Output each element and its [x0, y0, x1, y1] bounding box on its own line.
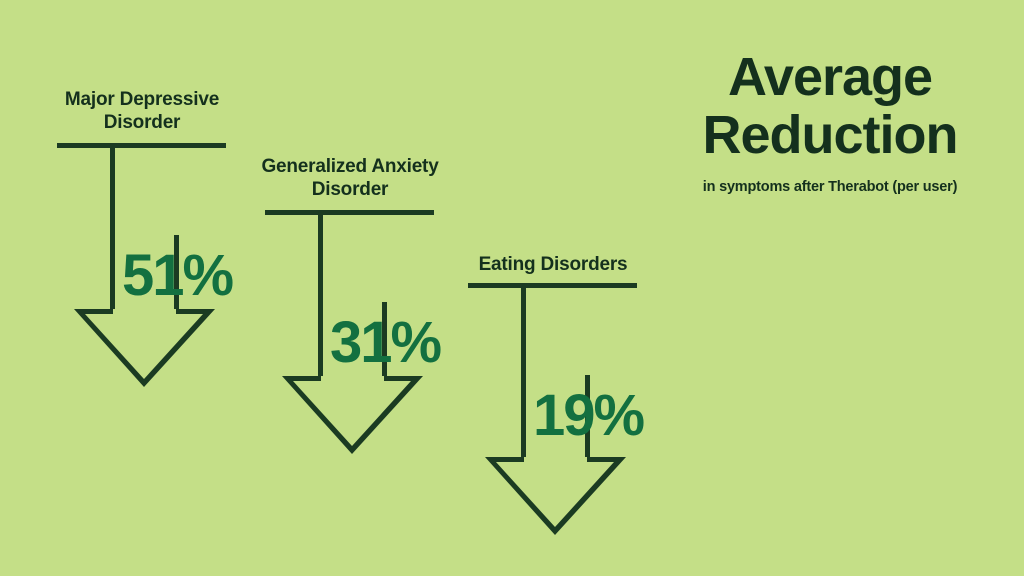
down-arrow-icon-major-depressive-disorder	[57, 88, 297, 388]
infographic-canvas: Major Depressive Disorder 51% Generalize…	[0, 0, 1024, 576]
page-subtitle: in symptoms after Therabot (per user)	[660, 179, 1000, 195]
stat-group-eating-disorders: Eating Disorders 19%	[468, 228, 708, 538]
page-title-line2: Reduction	[660, 106, 1000, 164]
stat-value-major-depressive-disorder: 51%	[122, 247, 232, 305]
stat-value-generalized-anxiety-disorder: 31%	[330, 314, 440, 372]
heading-block: Average Reduction in symptoms after Ther…	[660, 48, 1000, 195]
stat-value-eating-disorders: 19%	[533, 387, 643, 445]
page-title: Average Reduction	[660, 48, 1000, 165]
stat-group-major-depressive-disorder: Major Depressive Disorder 51%	[57, 88, 297, 388]
page-title-line1: Average	[660, 48, 1000, 106]
